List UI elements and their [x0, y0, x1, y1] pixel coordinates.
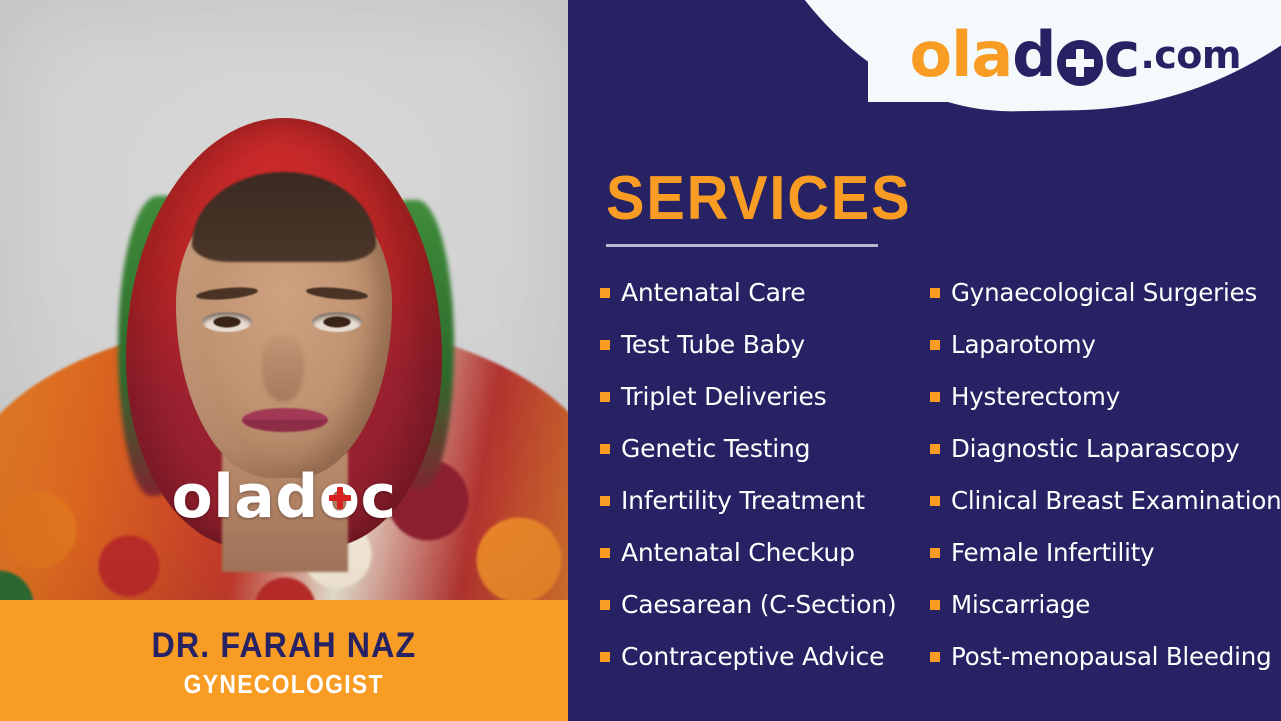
watermark-o-with-red-cross-icon: o	[319, 462, 361, 532]
plus-horizontal-bar	[1066, 59, 1094, 67]
doctor-services-card: oladoc DR. FARAH NAZ GYNECOLOGIST oladc.…	[0, 0, 1281, 721]
service-label: Antenatal Checkup	[621, 538, 855, 567]
bullet-square-icon	[930, 444, 940, 454]
doctor-name-banner: DR. FARAH NAZ GYNECOLOGIST	[0, 600, 568, 721]
services-column-right: Gynaecological Surgeries Laparotomy Hyst…	[930, 278, 1272, 694]
service-item[interactable]: Laparotomy	[930, 330, 1272, 382]
bullet-square-icon	[600, 288, 610, 298]
service-item[interactable]: Antenatal Checkup	[600, 538, 930, 590]
service-item[interactable]: Infertility Treatment	[600, 486, 930, 538]
service-item[interactable]: Genetic Testing	[600, 434, 930, 486]
service-label: Diagnostic Laparascopy	[951, 434, 1239, 463]
service-item[interactable]: Hysterectomy	[930, 382, 1272, 434]
service-item[interactable]: Triplet Deliveries	[600, 382, 930, 434]
photo-panel: oladoc DR. FARAH NAZ GYNECOLOGIST	[0, 0, 568, 721]
services-columns: Antenatal Care Test Tube Baby Triplet De…	[600, 278, 1272, 694]
red-cross-icon	[329, 487, 351, 509]
service-label: Triplet Deliveries	[621, 382, 827, 411]
service-label: Miscarriage	[951, 590, 1090, 619]
bullet-square-icon	[600, 600, 610, 610]
service-item[interactable]: Miscarriage	[930, 590, 1272, 642]
watermark-text-right: c	[360, 462, 396, 532]
services-heading: SERVICES	[606, 168, 911, 230]
bullet-square-icon	[930, 600, 940, 610]
service-label: Gynaecological Surgeries	[951, 278, 1257, 307]
service-item[interactable]: Antenatal Care	[600, 278, 930, 330]
doctor-photo: oladoc	[0, 0, 568, 600]
bullet-square-icon	[930, 288, 940, 298]
service-label: Test Tube Baby	[621, 330, 805, 359]
doctor-specialty: GYNECOLOGIST	[184, 671, 384, 697]
services-panel: oladc.com SERVICES Antenatal Care Test T…	[568, 0, 1281, 721]
bullet-square-icon	[930, 548, 940, 558]
logo-d-text: d	[1012, 24, 1055, 86]
bullet-square-icon	[600, 444, 610, 454]
service-item[interactable]: Contraceptive Advice	[600, 642, 930, 694]
doctor-name: DR. FARAH NAZ	[152, 628, 417, 663]
service-label: Caesarean (C-Section)	[621, 590, 896, 619]
service-item[interactable]: Gynaecological Surgeries	[930, 278, 1272, 330]
services-heading-group: SERVICES	[606, 168, 934, 247]
bullet-square-icon	[600, 652, 610, 662]
service-label: Laparotomy	[951, 330, 1096, 359]
watermark-text-left: olad	[171, 462, 318, 532]
services-heading-underline	[606, 244, 878, 247]
service-label: Female Infertility	[951, 538, 1154, 567]
service-item[interactable]: Caesarean (C-Section)	[600, 590, 930, 642]
service-label: Post-menopausal Bleeding	[951, 642, 1271, 671]
bullet-square-icon	[930, 496, 940, 506]
bullet-square-icon	[930, 652, 940, 662]
service-label: Contraceptive Advice	[621, 642, 884, 671]
bullet-square-icon	[600, 548, 610, 558]
bullet-square-icon	[600, 340, 610, 350]
logo-ola-text: ola	[909, 24, 1012, 86]
service-item[interactable]: Diagnostic Laparascopy	[930, 434, 1272, 486]
service-label: Hysterectomy	[951, 382, 1120, 411]
service-label: Antenatal Care	[621, 278, 805, 307]
service-label: Genetic Testing	[621, 434, 810, 463]
bullet-square-icon	[930, 340, 940, 350]
service-label: Clinical Breast Examination	[951, 486, 1281, 515]
oladoc-logo[interactable]: oladc.com	[909, 24, 1241, 86]
logo-domain-text: .com	[1140, 36, 1241, 74]
service-item[interactable]: Clinical Breast Examination	[930, 486, 1272, 538]
service-item[interactable]: Test Tube Baby	[600, 330, 930, 382]
service-item[interactable]: Female Infertility	[930, 538, 1272, 590]
logo-o-plus-icon	[1057, 40, 1103, 86]
logo-c-text: c	[1104, 24, 1140, 86]
service-label: Infertility Treatment	[621, 486, 865, 515]
bullet-square-icon	[930, 392, 940, 402]
bullet-square-icon	[600, 392, 610, 402]
services-column-left: Antenatal Care Test Tube Baby Triplet De…	[600, 278, 930, 694]
service-item[interactable]: Post-menopausal Bleeding	[930, 642, 1272, 694]
bullet-square-icon	[600, 496, 610, 506]
oladoc-watermark: oladoc	[0, 462, 568, 532]
